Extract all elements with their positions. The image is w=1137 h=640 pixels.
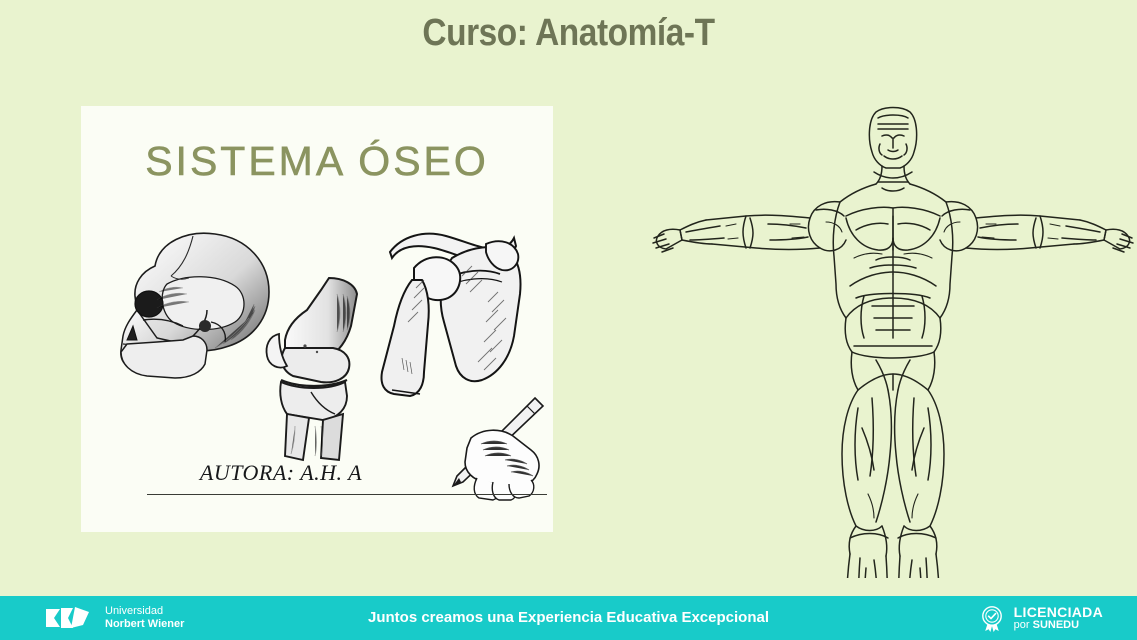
badge-prefix: por — [1014, 619, 1033, 631]
university-line2: Norbert Wiener — [105, 618, 184, 631]
university-name: Universidad Norbert Wiener — [105, 605, 184, 631]
author-rule — [147, 494, 547, 495]
university-line1: Universidad — [105, 605, 184, 618]
anatomy-figure — [650, 98, 1137, 578]
knee-joint-illustration — [259, 274, 377, 464]
footer-bar: Juntos creamos una Experiencia Educativa… — [0, 596, 1137, 640]
page-title: Curso: Anatomía-T — [68, 12, 1069, 55]
sunedu-badge-text: LICENCIADA por SUNEDU — [1014, 606, 1103, 632]
slide-root: Curso: Anatomía-T SISTEMA ÓSEO — [0, 0, 1137, 640]
license-seal-icon — [977, 604, 1007, 634]
badge-line1: LICENCIADA — [1014, 606, 1103, 619]
cover-card: SISTEMA ÓSEO — [81, 106, 553, 532]
writing-hand-illustration — [419, 394, 549, 514]
sunedu-badge: LICENCIADA por SUNEDU — [977, 604, 1103, 634]
badge-sunedu: SUNEDU — [1033, 619, 1079, 631]
cover-title: SISTEMA ÓSEO — [81, 138, 553, 185]
scapula-illustration — [366, 218, 526, 403]
badge-line2: por SUNEDU — [1014, 619, 1103, 632]
university-logo: Universidad Norbert Wiener — [44, 603, 184, 633]
norbert-wiener-logo-icon — [44, 603, 96, 633]
cover-author: AUTORA: A.H. A — [81, 460, 481, 486]
